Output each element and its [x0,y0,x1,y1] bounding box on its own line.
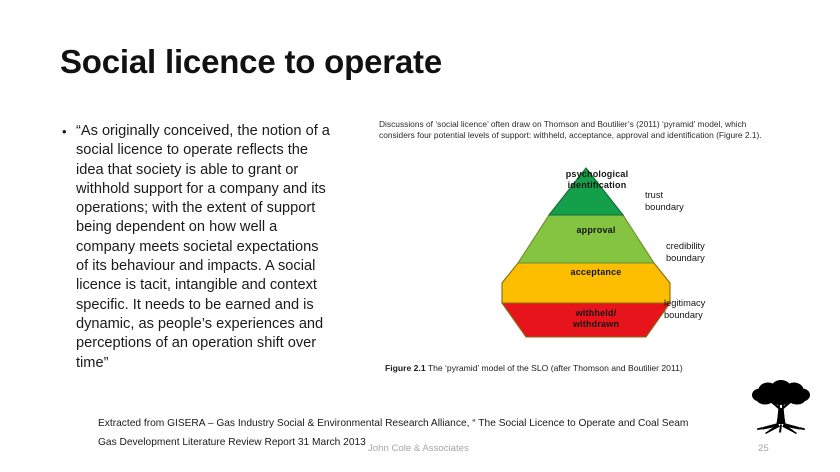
footer-page-number: 25 [758,443,769,454]
pyramid-band-acceptance [502,263,670,303]
slide-canvas: Social licence to operate • “As original… [0,0,840,472]
pyramid-band-approval [518,215,654,263]
figure-caption-text: The ‘pyramid’ model of the SLO (after Th… [426,363,683,373]
pyramid-svg [494,163,754,349]
tree-logo [748,374,814,436]
pyramid-band-identification [549,168,623,215]
tree-icon [748,374,814,436]
figure-intro-text: Discussions of ‘social licence’ often dr… [379,119,783,141]
figure-intro-block: Discussions of ‘social licence’ often dr… [379,119,799,141]
footer-organization: John Cole & Associates [368,443,469,454]
bullet-marker-icon: • [62,122,76,141]
page-title: Social licence to operate [60,44,442,80]
bullet-list: • “As originally conceived, the notion o… [62,122,334,373]
figure-caption-label: Figure 2.1 [385,363,426,373]
slo-pyramid-diagram: psychological identification approval ac… [494,163,754,349]
pyramid-band-withheld [502,303,670,337]
list-item: • “As originally conceived, the notion o… [62,122,334,373]
figure-caption: Figure 2.1 The ‘pyramid’ model of the SL… [385,363,683,373]
quote-text: “As originally conceived, the notion of … [76,122,334,373]
